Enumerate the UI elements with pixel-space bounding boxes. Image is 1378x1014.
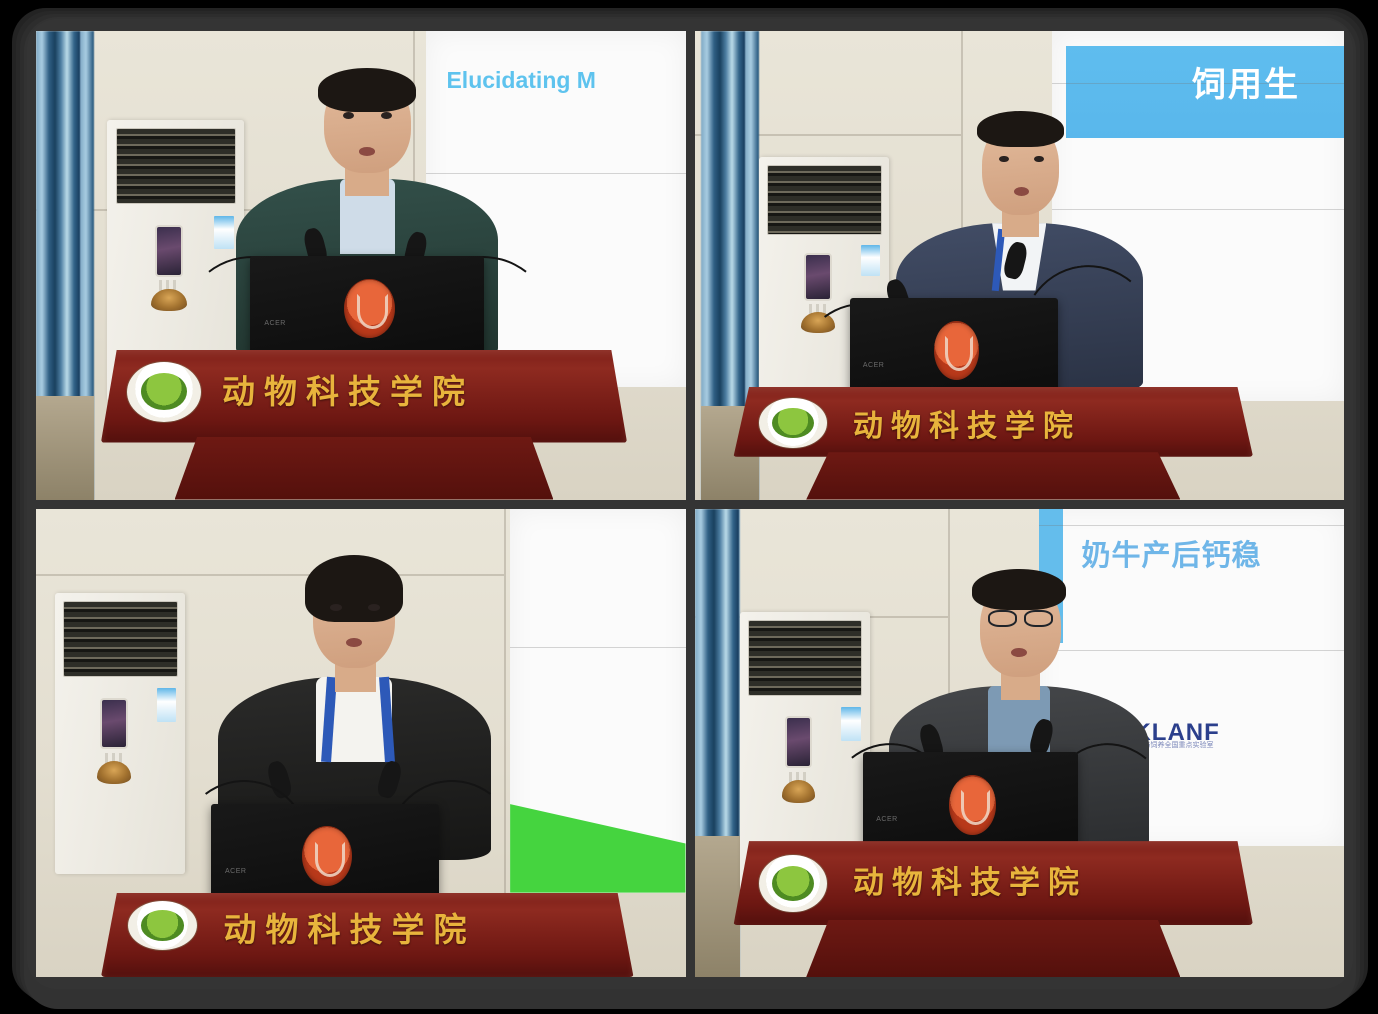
ac-display bbox=[102, 700, 125, 748]
podium-label-bottom-right: 动物科技学院 bbox=[853, 857, 1087, 902]
podium-top-left: 动物科技学院 bbox=[101, 350, 627, 500]
radiator bbox=[36, 396, 94, 499]
photo-bottom-left[interactable]: ACER 动物科技学院 bbox=[36, 509, 686, 978]
photo-bottom-right[interactable]: 奶牛产后钙稳 SKLANF 动物营养与饲养全国重点实验室 bbox=[695, 509, 1345, 978]
ac-sticker bbox=[841, 707, 860, 741]
ac-sticker bbox=[861, 245, 880, 276]
ac-display bbox=[806, 255, 829, 299]
screen-seam bbox=[1039, 525, 1344, 526]
ac-vent bbox=[116, 128, 236, 204]
ac-display bbox=[787, 718, 810, 766]
ac-vent bbox=[748, 620, 862, 696]
eyeglasses-right-lens bbox=[1024, 610, 1053, 627]
ac-sticker bbox=[157, 688, 176, 722]
collage-board: Elucidating M bbox=[27, 19, 1353, 989]
speaker-hair bbox=[977, 111, 1063, 148]
laptop-brand-label: ACER bbox=[876, 816, 897, 823]
podium-top-right: 动物科技学院 bbox=[733, 387, 1253, 499]
speaker-mouth bbox=[359, 147, 375, 156]
slide-green-wave-graphic bbox=[510, 770, 685, 893]
podium-bottom-left: 动物科技学院 bbox=[101, 893, 634, 977]
photo-top-right[interactable]: 饲用生 bbox=[695, 31, 1345, 500]
laptop-bottom-right: ACER bbox=[863, 752, 1077, 855]
projection-screen bbox=[510, 509, 685, 893]
speaker-hair bbox=[972, 569, 1066, 610]
speaker-mouth bbox=[1011, 648, 1027, 657]
speaker-mouth bbox=[1014, 187, 1029, 196]
podium-label-bottom-left: 动物科技学院 bbox=[223, 903, 475, 951]
slide-title-top-right: 饲用生 bbox=[1192, 57, 1300, 106]
college-seal-logo bbox=[759, 855, 827, 912]
college-seal-logo bbox=[127, 362, 201, 422]
podium-base bbox=[175, 437, 554, 500]
laptop-brand-label: ACER bbox=[264, 320, 285, 327]
laptop-bottom-left: ACER bbox=[211, 804, 438, 907]
podium-bottom-right: 动物科技学院 bbox=[733, 841, 1253, 977]
bull-head-emblem-icon bbox=[344, 279, 395, 339]
bull-head-emblem-icon bbox=[302, 826, 352, 886]
photo-grid: Elucidating M bbox=[36, 31, 1344, 977]
speaker-eye-left bbox=[343, 112, 354, 119]
college-seal-logo bbox=[759, 398, 827, 447]
ac-decoration-emblem bbox=[782, 780, 816, 802]
laptop-brand-label: ACER bbox=[863, 362, 884, 369]
speaker-hair bbox=[305, 555, 403, 622]
college-seal-logo bbox=[128, 901, 197, 950]
bull-head-emblem-icon bbox=[949, 775, 996, 835]
ac-display bbox=[157, 227, 182, 275]
air-conditioner bbox=[55, 593, 185, 874]
laptop-top-right: ACER bbox=[850, 298, 1058, 401]
speaker-eye-right bbox=[381, 112, 392, 119]
collage-stage: Elucidating M bbox=[0, 0, 1378, 1014]
ac-decoration-emblem bbox=[97, 761, 131, 783]
slide-title-bottom-right: 奶牛产后钙稳 bbox=[1081, 532, 1261, 574]
ac-vent bbox=[63, 601, 177, 677]
ac-vent bbox=[767, 165, 881, 235]
bull-head-emblem-icon bbox=[934, 321, 980, 381]
laptop-top-left: ACER bbox=[250, 256, 484, 359]
screen-seam bbox=[510, 647, 685, 648]
speaker-hair bbox=[318, 68, 416, 112]
podium-base bbox=[806, 920, 1180, 977]
ac-decoration-emblem bbox=[151, 289, 186, 311]
photo-top-left[interactable]: Elucidating M bbox=[36, 31, 686, 500]
laptop-brand-label: ACER bbox=[225, 868, 246, 875]
podium-label-top-right: 动物科技学院 bbox=[853, 401, 1081, 445]
eyeglasses-left-lens bbox=[988, 610, 1017, 627]
podium-label-top-left: 动物科技学院 bbox=[222, 365, 474, 413]
podium-base bbox=[806, 452, 1180, 499]
